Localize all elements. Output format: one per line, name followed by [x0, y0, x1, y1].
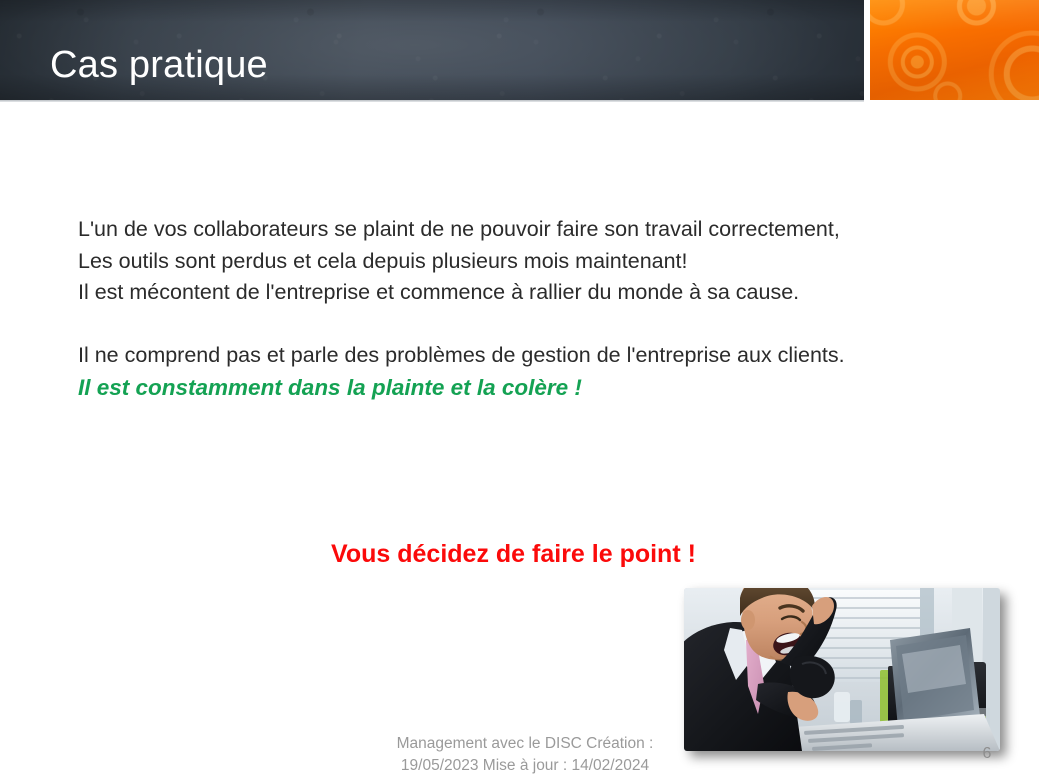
- slide-title: Cas pratique: [50, 46, 268, 84]
- body-text-block: L'un de vos collaborateurs se plaint de …: [78, 214, 958, 403]
- footer-line-2: 19/05/2023 Mise à jour : 14/02/2024: [360, 755, 690, 777]
- footer-line-1: Management avec le DISC Création :: [360, 733, 690, 755]
- page-number: 6: [975, 745, 999, 763]
- body-line-highlight-green: Il est constamment dans la plainte et la…: [78, 372, 958, 404]
- body-line-3: Il est mécontent de l'entreprise et comm…: [78, 277, 958, 309]
- angry-employee-illustration: [684, 588, 1000, 751]
- body-line-2: Les outils sont perdus et cela depuis pl…: [78, 246, 958, 278]
- body-line-4: Il ne comprend pas et parle des problème…: [78, 340, 958, 372]
- body-line-1: L'un de vos collaborateurs se plaint de …: [78, 214, 958, 246]
- angry-employee-photo: [684, 588, 1000, 751]
- body-blank-line: [78, 309, 958, 341]
- callout-red: Vous décidez de faire le point !: [0, 540, 1039, 569]
- orange-decorative-panel: [870, 0, 1039, 100]
- callout-red-text: Vous décidez de faire le point !: [331, 540, 696, 569]
- slide: Cas pratique L'un de vos collaborateurs …: [0, 0, 1039, 781]
- header-divider-rule: [0, 100, 864, 102]
- slide-footer: Management avec le DISC Création : 19/05…: [360, 733, 690, 777]
